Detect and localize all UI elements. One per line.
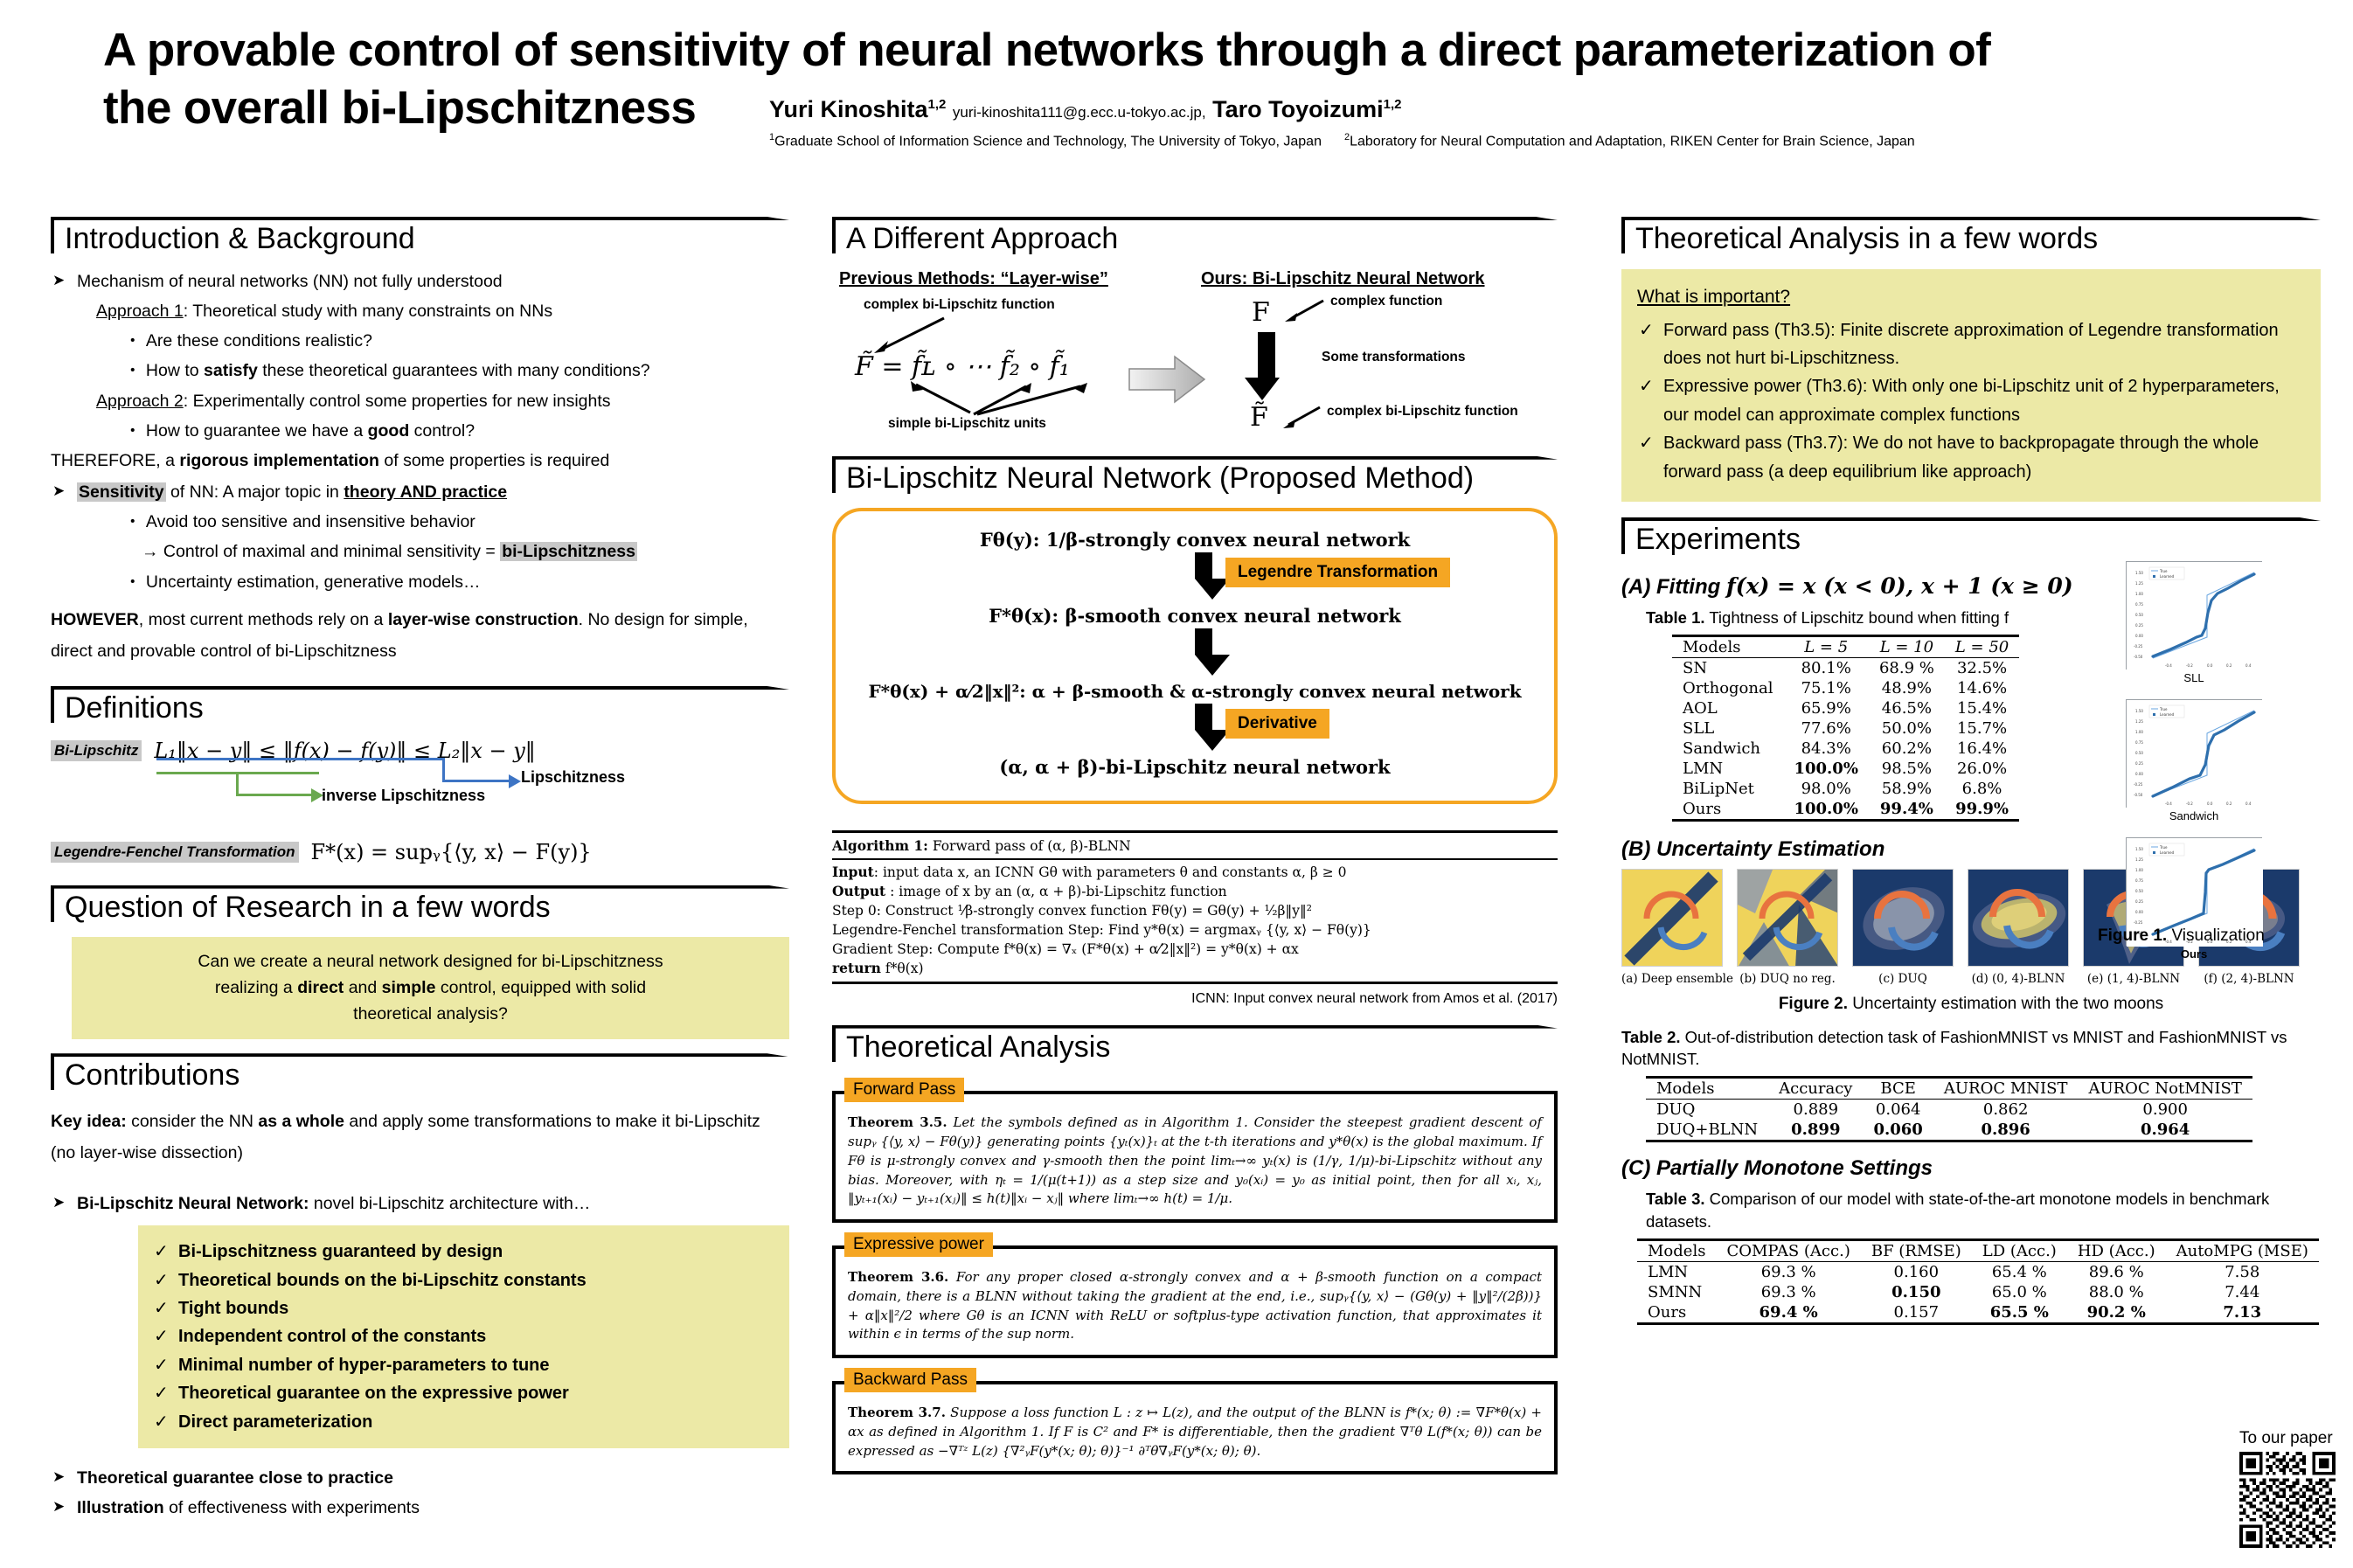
table-3-caption: Table 3. Comparison of our model with st… — [1646, 1188, 2321, 1233]
contributions-heading: Contributions — [51, 1053, 789, 1097]
algorithm-box: Algorithm 1: Forward pass of (α, β)-BLNN… — [832, 830, 1558, 1009]
contributions-guarantee-text: Theoretical guarantee close to practice — [77, 1468, 393, 1488]
table-1-cell: AOL — [1672, 698, 1783, 718]
table-3-cell: 7.44 — [2166, 1282, 2319, 1302]
figure-1-label-ours: Ours — [2126, 947, 2262, 961]
question-line-1: Can we create a neural network designed … — [87, 949, 774, 975]
qr-block: To our paper — [2239, 1429, 2336, 1552]
table-2-cell: 0.899 — [1768, 1120, 1863, 1141]
affil-2: Laboratory for Neural Computation and Ad… — [1350, 134, 1915, 149]
question-line-2-mid: and — [344, 978, 381, 997]
table-2-col-auroc-notmnist: AUROC NotMNIST — [2078, 1078, 2252, 1100]
table-1-cell: 46.5% — [1869, 698, 1945, 718]
svg-text:1.25: 1.25 — [2135, 857, 2143, 862]
theorem-3-6-text: For any proper closed α-strongly convex … — [848, 1269, 1542, 1342]
approach-left-formula: F̃ = f̃ʟ ∘ ⋯ f̃₂ ∘ f̃₁ — [855, 351, 1070, 382]
table-1-cell: 60.2% — [1869, 739, 1945, 759]
table-row: SN80.1%68.9 %32.5% — [1672, 657, 2019, 678]
table-1-cell: 99.9% — [1945, 799, 2019, 821]
section-theory-few-words: Theoretical Analysis in a few words What… — [1621, 217, 2321, 502]
contribution-item-label: Bi-Lipschitzness guaranteed by design — [178, 1242, 503, 1261]
svg-text:0.0: 0.0 — [2207, 801, 2213, 806]
moon-image-0-4-blnn — [1968, 869, 2069, 967]
table-1-cell: 48.9% — [1869, 678, 1945, 698]
intro-s1-text: ・ Avoid too sensitive and insensitive be… — [124, 512, 475, 531]
middle-column: A Different Approach Previous Methods: “… — [832, 217, 1558, 1487]
table-3-cell: 0.157 — [1861, 1302, 1972, 1324]
table-row: Ours69.4 %0.15765.5 %90.2 %7.13 — [1637, 1302, 2319, 1324]
moon-caption: (a) Deep ensemble — [1621, 972, 1723, 986]
svg-text:0.75: 0.75 — [2135, 740, 2143, 745]
proposed-step-1: Fθ(y): 1/β-strongly convex neural networ… — [850, 529, 1540, 551]
table-row: LMN69.3 %0.16065.4 %89.6 %7.58 — [1637, 1262, 2319, 1283]
intro-bullet-1-text: Mechanism of neural networks (NN) not fu… — [77, 272, 503, 291]
table-3-cell: LMN — [1637, 1262, 1716, 1283]
green-run — [236, 794, 313, 796]
theorem-backward-pass: Backward Pass Theorem 3.7. Suppose a los… — [832, 1381, 1558, 1474]
author-1-affil-sup: 1,2 — [928, 97, 947, 112]
contributions-illustration-rest: of effectiveness with experiments — [164, 1498, 420, 1517]
figure-1-caption: Figure 1. Visualization — [2098, 926, 2351, 946]
svg-text:-0.50: -0.50 — [2134, 793, 2143, 797]
theory-point-item: Expressive power (Th3.6): With only one … — [1637, 372, 2305, 429]
title-line-1: A provable control of sensitivity of neu… — [103, 24, 1990, 76]
svg-text:0.4: 0.4 — [2245, 663, 2252, 668]
table-1-cell: 32.5% — [1945, 657, 2019, 678]
contribution-item: Theoretical guarantee on the expressive … — [152, 1379, 775, 1407]
table-1-cell: 77.6% — [1783, 718, 1868, 739]
moon-panel: (c) DUQ — [1852, 869, 1954, 986]
table-row: DUQ+BLNN0.8990.0600.8960.964 — [1646, 1120, 2252, 1141]
figure-1-panel-sandwich: 1.501.251.00 0.750.500.25 0.00-0.25-0.50… — [2126, 699, 2262, 822]
contribution-item: Minimal number of hyper-parameters to tu… — [152, 1351, 775, 1379]
table-3-cell: 69.3 % — [1716, 1262, 1860, 1283]
contributions-bullet-blnn: Bi-Lipschitz Neural Network: novel bi-Li… — [51, 1191, 789, 1217]
author-line: Yuri Kinoshita1,2 yuri-kinoshita111@g.ec… — [769, 96, 2334, 123]
contribution-item: Direct parameterization — [152, 1408, 775, 1436]
table-3-col-hd: HD (Acc.) — [2067, 1240, 2166, 1262]
svg-text:0.75: 0.75 — [2135, 878, 2143, 883]
moon-caption: (f) (2, 4)-BLNN — [2198, 972, 2300, 986]
experiments-heading: Experiments — [1621, 517, 2321, 561]
question-box: Can we create a neural network designed … — [72, 937, 789, 1039]
approach-down-arrow-icon — [1253, 332, 1280, 400]
svg-text:Learned: Learned — [2160, 850, 2175, 855]
table-1-cell: LMN — [1672, 759, 1783, 779]
table-3-caption-label: Table 3. — [1646, 1190, 1705, 1208]
table-3-cell: 69.4 % — [1716, 1302, 1860, 1324]
table-row: SMNN69.3 %0.15065.0 %88.0 %7.44 — [1637, 1282, 2319, 1302]
algorithm-rule-top — [832, 830, 1558, 833]
algorithm-line-text: : image of x by an (α, α + β)-bi-Lipschi… — [885, 884, 1226, 899]
table-3-cell: 88.0 % — [2067, 1282, 2166, 1302]
algorithm-footnote: ICNN: Input convex neural network from A… — [832, 989, 1558, 1009]
proposed-arrow-3-wrap: Derivative — [850, 702, 1540, 756]
table-1-cell: 100.0% — [1783, 759, 1868, 779]
table-1-cell: 99.4% — [1869, 799, 1945, 821]
proposed-heading-text: Bi-Lipschitz Neural Network (Proposed Me… — [846, 461, 1474, 495]
figure-1-caption-label: Figure 1. — [2098, 926, 2167, 945]
table-1-col-l10: L = 10 — [1869, 635, 1945, 657]
table-row: Sandwich84.3%60.2%16.4% — [1672, 739, 2019, 759]
intro-a1-s2-pre: ・ How to — [124, 361, 204, 380]
blue-underline — [156, 758, 445, 760]
svg-text:1.25: 1.25 — [2135, 719, 2143, 724]
theory-point-text: Expressive power (Th3.6): With only one … — [1663, 377, 2280, 424]
label-lipschitzness: Lipschitzness — [521, 768, 625, 787]
question-simple: simple — [382, 978, 436, 997]
key-idea-bold: as a whole — [258, 1112, 344, 1131]
question-direct: direct — [297, 978, 344, 997]
table-3: Models COMPAS (Acc.) BF (RMSE) LD (Acc.)… — [1637, 1238, 2319, 1325]
table-1-cell: 15.7% — [1945, 718, 2019, 739]
table-2-cell: 0.064 — [1863, 1100, 1933, 1120]
table-2-header-row: Models Accuracy BCE AUROC MNIST AUROC No… — [1646, 1078, 2252, 1100]
table-row: SLL77.6%50.0%15.7% — [1672, 718, 2019, 739]
question-line-2: realizing a direct and simple control, e… — [87, 975, 774, 1002]
approach-left-title: Previous Methods: “Layer-wise” — [839, 269, 1108, 289]
table-1-cell: 68.9 % — [1869, 657, 1945, 678]
algorithm-title-rest: Forward pass of (α, β)-BLNN — [928, 838, 1131, 854]
table-1-cell: 98.5% — [1869, 759, 1945, 779]
what-is-important-label: What is important? — [1637, 283, 2305, 311]
theory-heading: Theoretical Analysis — [832, 1025, 1558, 1069]
svg-text:0.00: 0.00 — [2135, 772, 2143, 776]
theory-few-words-box: What is important? Forward pass (Th3.5):… — [1621, 269, 2321, 502]
svg-text:True: True — [2159, 845, 2168, 850]
algorithm-line-text: f*θ(x) — [881, 961, 924, 976]
poster-root: A provable control of sensitivity of neu… — [0, 0, 2353, 1568]
theory-point-text: Backward pass (Th3.7): We do not have to… — [1663, 434, 2259, 481]
contribution-item-label: Direct parameterization — [178, 1412, 372, 1432]
table-2: Models Accuracy BCE AUROC MNIST AUROC No… — [1646, 1076, 2252, 1142]
theorem-expressive-power: Expressive power Theorem 3.6. For any pr… — [832, 1245, 1558, 1358]
author-1-email[interactable]: yuri-kinoshita111@g.ecc.u-tokyo.ac.jp, — [953, 104, 1206, 121]
tag-legendre-transformation: Legendre Transformation — [1225, 558, 1450, 587]
contributions-bullet-illustration: Illustration of effectiveness with exper… — [51, 1495, 789, 1521]
svg-text:-0.50: -0.50 — [2134, 655, 2143, 659]
poster-header: A provable control of sensitivity of neu… — [0, 24, 2353, 135]
table-1-cell: 84.3% — [1783, 739, 1868, 759]
table-3-cell: SMNN — [1637, 1282, 1716, 1302]
approach-diagram: Previous Methods: “Layer-wise” Ours: Bi-… — [832, 269, 1558, 444]
svg-text:1.25: 1.25 — [2135, 581, 2143, 586]
figure-1-caption-text: Visualization — [2167, 926, 2265, 945]
table-3-cell: 0.160 — [1861, 1262, 1972, 1283]
blue-run — [442, 780, 510, 782]
introduction-heading-text: Introduction & Background — [65, 222, 415, 255]
svg-text:Learned: Learned — [2160, 574, 2175, 579]
table-row: DUQ0.8890.0640.8620.900 — [1646, 1100, 2252, 1120]
table-1-cell: 80.1% — [1783, 657, 1868, 678]
svg-text:0.25: 0.25 — [2135, 623, 2143, 628]
svg-text:True: True — [2159, 569, 2168, 573]
theory-point-item: Backward pass (Th3.7): We do not have to… — [1637, 429, 2305, 486]
algorithm-line-keyword: Input — [832, 864, 874, 880]
intro-a1-s1: ・ Are these conditions realistic? — [51, 329, 789, 354]
approach-left-bottom-label: simple bi-Lipschitz units — [888, 416, 1046, 432]
algorithm-line: Gradient Step: Compute f*θ(x) = ∇ₓ (F*θ(… — [832, 940, 1558, 959]
table-2-cell: 0.964 — [2078, 1120, 2252, 1141]
table-3-col-models: Models — [1637, 1240, 1716, 1262]
author-2-name: Taro Toyoizumi — [1212, 96, 1384, 122]
contribution-item: Independent control of the constants — [152, 1322, 775, 1350]
table-row: AOL65.9%46.5%15.4% — [1672, 698, 2019, 718]
contributions-blnn-bold: Bi-Lipschitz Neural Network: — [77, 1194, 309, 1213]
introduction-heading: Introduction & Background — [51, 217, 789, 260]
intro-approach-1: Approach 1: Theoretical study with many … — [51, 299, 789, 324]
section-theoretical-analysis: Theoretical Analysis Forward Pass Theore… — [832, 1025, 1558, 1475]
theorem-3-7-body: Theorem 3.7. Suppose a loss function L :… — [848, 1404, 1542, 1460]
algorithm-line: Step 0: Construct ¹⁄β-strongly convex fu… — [832, 901, 1558, 920]
table-1-header-row: Models L = 5 L = 10 L = 50 — [1672, 635, 2019, 657]
moon-caption: (e) (1, 4)-BLNN — [2083, 972, 2184, 986]
approach-right-F-label: complex function — [1330, 294, 1442, 309]
table-2-caption-text: Out-of-distribution detection task of Fa… — [1621, 1028, 2287, 1069]
table-3-cell: 7.58 — [2166, 1262, 2319, 1283]
svg-text:0.00: 0.00 — [2135, 634, 2143, 638]
table-3-cell: 7.13 — [2166, 1302, 2319, 1324]
moon-panel: (b) DUQ no reg. — [1737, 869, 1838, 986]
table-3-cell: 69.3 % — [1716, 1282, 1860, 1302]
approach-heading-text: A Different Approach — [846, 222, 1118, 255]
intro-therefore-post: of some properties is required — [379, 451, 609, 470]
table-2-cell: 0.900 — [2078, 1100, 2252, 1120]
algorithm-title-bold: Algorithm 1: — [832, 837, 928, 854]
contribution-item-label: Theoretical guarantee on the expressive … — [178, 1384, 569, 1403]
intro-a1-s2-bold: satisfy — [204, 361, 258, 380]
definition-legendre-tag: Legendre-Fenchel Transformation — [51, 842, 299, 863]
table-2-caption-label: Table 2. — [1621, 1028, 1681, 1046]
contribution-item: Theoretical bounds on the bi-Lipschitz c… — [152, 1266, 775, 1294]
intro-a1-s2: ・ How to satisfy these theoretical guara… — [51, 358, 789, 384]
approach-transition-arrow-icon — [1128, 353, 1208, 410]
approach-2-text: : Experimentally control some properties… — [184, 392, 611, 411]
contributions-heading-text: Contributions — [65, 1058, 239, 1092]
moon-image-duq-no-reg — [1737, 869, 1838, 967]
proposed-arrow-2-wrap — [850, 627, 1540, 681]
definition-annotation-graphics: inverse Lipschitzness Lipschitzness — [156, 763, 789, 828]
svg-text:-0.25: -0.25 — [2134, 644, 2143, 649]
approach-2-label: Approach 2 — [96, 392, 184, 411]
table-3-cell: 89.6 % — [2067, 1262, 2166, 1283]
svg-text:1.50: 1.50 — [2135, 847, 2143, 851]
table-3-cell: 65.5 % — [1972, 1302, 2067, 1324]
svg-text:1.50: 1.50 — [2135, 571, 2143, 575]
author-2-affil-sup: 1,2 — [1384, 97, 1402, 112]
intro-bullet-2: Sensitivity of NN: A major topic in theo… — [51, 480, 789, 505]
svg-text:1.00: 1.00 — [2135, 592, 2143, 596]
svg-text:0.4: 0.4 — [2245, 801, 2252, 806]
svg-text:1.00: 1.00 — [2135, 868, 2143, 872]
theorem-tag-backward-pass: Backward Pass — [844, 1368, 976, 1392]
table-1-cell: Ours — [1672, 799, 1783, 821]
intro-approach-2: Approach 2: Experimentally control some … — [51, 389, 789, 414]
svg-text:0.25: 0.25 — [2135, 761, 2143, 766]
algorithm-line-text: Step 0: Construct ¹⁄β-strongly convex fu… — [832, 903, 1312, 919]
intro-a2-s1: ・ How to guarantee we have a good contro… — [51, 419, 789, 444]
approach-heading: A Different Approach — [832, 217, 1558, 260]
intro-theory-practice: theory AND practice — [344, 482, 507, 502]
section-definitions: Definitions Bi-Lipschitz L₁‖x − y‖ ≤ ‖f(… — [51, 686, 789, 864]
contribution-item: Bi-Lipschitzness guaranteed by design — [152, 1238, 775, 1266]
definition-bilipschitz-tag: Bi-Lipschitz — [51, 740, 142, 761]
contributions-illustration-bold: Illustration — [77, 1498, 164, 1517]
table-1-caption-text: Tightness of Lipschitz bound when fittin… — [1705, 608, 2009, 627]
algorithm-line-text: Legendre-Fenchel transformation Step: Fi… — [832, 922, 1371, 938]
theory-few-words-heading-text: Theoretical Analysis in a few words — [1635, 222, 2098, 255]
contributions-key-idea: Key idea: consider the NN as a whole and… — [51, 1106, 789, 1169]
table-1-cell: 50.0% — [1869, 718, 1945, 739]
contribution-item-label: Independent control of the constants — [178, 1327, 486, 1346]
theorem-3-5-text: Let the symbols defined as in Algorithm … — [848, 1114, 1542, 1206]
table-1-col-l50: L = 50 — [1945, 635, 2019, 657]
table-1-cell: SN — [1672, 657, 1783, 678]
table-2-cell: DUQ+BLNN — [1646, 1120, 1768, 1141]
experiments-heading-text: Experiments — [1635, 523, 1801, 556]
green-drop — [236, 772, 239, 796]
table-3-cell: 0.150 — [1861, 1282, 1972, 1302]
intro-a2-s1-pre: ・ How to guarantee we have a — [124, 421, 368, 441]
approach-1-label: Approach 1 — [96, 302, 184, 321]
table-3-caption-text: Comparison of our model with state-of-th… — [1646, 1190, 2269, 1231]
question-line-2-pre: realizing a — [215, 978, 297, 997]
svg-text:-0.2: -0.2 — [2186, 801, 2193, 806]
intro-however-bold-1: HOWEVER — [51, 610, 139, 629]
theory-heading-text: Theoretical Analysis — [846, 1030, 1110, 1064]
question-line-3: theoretical analysis? — [87, 1002, 774, 1028]
proposed-arrow-1-wrap: Legendre Transformation — [850, 551, 1540, 605]
algorithm-line-text: Gradient Step: Compute f*θ(x) = ∇ₓ (F*θ(… — [832, 941, 1299, 957]
theorem-3-6-label: Theorem 3.6. — [848, 1269, 948, 1285]
theory-point-item: Forward pass (Th3.5): Finite discrete ap… — [1637, 316, 2305, 373]
table-3-cell: 65.0 % — [1972, 1282, 2067, 1302]
table-3-col-bf: BF (RMSE) — [1861, 1240, 1972, 1262]
definition-legendre-formula: F*(x) = supᵧ{⟨y, x⟩ − F(y)} — [311, 840, 592, 864]
intro-s3-text: ・ Uncertainty estimation, generative mod… — [124, 572, 481, 592]
moon-caption: (c) DUQ — [1852, 972, 1954, 986]
question-line-2-post: control, equipped with solid — [435, 978, 646, 997]
intro-therefore-bold: rigorous implementation — [179, 451, 379, 470]
algorithm-rule-mid — [832, 858, 1558, 860]
svg-text:0.50: 0.50 — [2135, 889, 2143, 893]
approach-transformations-label: Some transformations — [1322, 350, 1466, 365]
theory-point-text: Forward pass (Th3.5): Finite discrete ap… — [1663, 321, 2279, 368]
approach-right-F: F — [1252, 297, 1270, 328]
intro-therefore-pre: THEREFORE, a — [51, 451, 179, 470]
table-2-cell: 0.060 — [1863, 1120, 1933, 1141]
svg-text:-0.2: -0.2 — [2186, 663, 2193, 668]
table-1-cell: 100.0% — [1783, 799, 1868, 821]
intro-a1-s1-text: ・ Are these conditions realistic? — [124, 331, 372, 350]
proposed-heading: Bi-Lipschitz Neural Network (Proposed Me… — [832, 456, 1558, 500]
approach-right-Ftilde-arrow-icon — [1281, 402, 1327, 430]
figure-1-label-sll: SLL — [2126, 671, 2262, 684]
theorem-tag-forward-pass: Forward Pass — [844, 1078, 964, 1102]
affil-1: Graduate School of Information Science a… — [774, 134, 1322, 149]
theorem-3-5-body: Theorem 3.5. Let the symbols defined as … — [848, 1114, 1542, 1209]
section-introduction: Introduction & Background Mechanism of n… — [51, 217, 789, 667]
table-1-col-models: Models — [1672, 635, 1783, 657]
intro-therefore: THEREFORE, a rigorous implementation of … — [51, 448, 789, 475]
figure-2-caption-text: Uncertainty estimation with the two moon… — [1848, 995, 2163, 1013]
experiment-a-formula: f(x) = x (x < 0), x + 1 (x ≥ 0) — [1726, 573, 2073, 599]
svg-text:0.0: 0.0 — [2207, 663, 2213, 668]
qr-code-icon[interactable] — [2239, 1452, 2336, 1548]
tag-derivative: Derivative — [1225, 709, 1329, 739]
left-column: Introduction & Background Mechanism of n… — [51, 217, 789, 1533]
affiliations: 1Graduate School of Information Science … — [769, 132, 2334, 149]
moon-caption: (b) DUQ no reg. — [1737, 972, 1838, 986]
table-1-cell: Sandwich — [1672, 739, 1783, 759]
table-1-cell: Orthogonal — [1672, 678, 1783, 698]
table-1-cell: 75.1% — [1783, 678, 1868, 698]
table-3-header-row: Models COMPAS (Acc.) BF (RMSE) LD (Acc.)… — [1637, 1240, 2319, 1262]
svg-text:0.2: 0.2 — [2226, 801, 2232, 806]
section-question: Question of Research in a few words Can … — [51, 885, 789, 1040]
table-2-cell: 0.862 — [1933, 1100, 2079, 1120]
key-idea-pre: consider the NN — [127, 1112, 259, 1131]
algorithm-line-text: : input data x, an ICNN Gθ with paramete… — [874, 864, 1347, 880]
algorithm-line: return f*θ(x) — [832, 959, 1558, 978]
question-heading: Question of Research in a few words — [51, 885, 789, 929]
svg-text:0.00: 0.00 — [2135, 910, 2143, 914]
definitions-heading: Definitions — [51, 686, 789, 730]
table-1-cell: BiLipNet — [1672, 779, 1783, 799]
approach-right-title: Ours: Bi-Lipschitz Neural Network — [1201, 269, 1485, 289]
contribution-item-label: Theoretical bounds on the bi-Lipschitz c… — [178, 1271, 587, 1290]
intro-however: HOWEVER, most current methods rely on a … — [51, 604, 789, 667]
experiment-section-c-title: (C) Partially Monotone Settings — [1621, 1156, 2321, 1181]
table-2-col-accuracy: Accuracy — [1768, 1078, 1863, 1100]
contributions-blnn-rest: novel bi-Lipschitz architecture with… — [309, 1194, 590, 1213]
intro-a2-s1-bold: good — [368, 421, 410, 441]
question-heading-text: Question of Research in a few words — [65, 891, 551, 924]
svg-text:0.75: 0.75 — [2135, 602, 2143, 607]
table-2-caption: Table 2. Out-of-distribution detection t… — [1621, 1026, 2321, 1072]
table-1-cell: 65.9% — [1783, 698, 1868, 718]
approach-1-text: : Theoretical study with many constraint… — [184, 302, 552, 321]
table-1-cell: 16.4% — [1945, 739, 2019, 759]
intro-a2-s1-post: control? — [409, 421, 475, 441]
table-row: Ours100.0%99.4%99.9% — [1672, 799, 2019, 821]
table-3-cell: 65.4 % — [1972, 1262, 2067, 1283]
svg-text:-0.4: -0.4 — [2165, 801, 2172, 806]
section-approach: A Different Approach Previous Methods: “… — [832, 217, 1558, 444]
theorem-tag-expressive-power: Expressive power — [844, 1232, 993, 1257]
definition-legendre-row: Legendre-Fenchel Transformation F*(x) = … — [51, 840, 789, 864]
moon-image-duq — [1852, 869, 1954, 967]
theorem-forward-pass: Forward Pass Theorem 3.5. Let the symbol… — [832, 1091, 1558, 1223]
table-2-col-auroc-mnist: AUROC MNIST — [1933, 1078, 2079, 1100]
plot-sandwich: 1.501.251.00 0.750.500.25 0.00-0.25-0.50… — [2126, 699, 2262, 808]
algorithm-rule-bottom — [832, 982, 1558, 984]
intro-s3: ・ Uncertainty estimation, generative mod… — [51, 570, 789, 595]
approach-left-arrow-icon — [871, 315, 949, 355]
table-row: BiLipNet98.0%58.9%6.8% — [1672, 779, 2019, 799]
svg-text:-0.4: -0.4 — [2165, 663, 2172, 668]
figure-1-label-sandwich: Sandwich — [2126, 809, 2262, 822]
key-idea-label: Key idea: — [51, 1112, 127, 1131]
svg-text:-0.25: -0.25 — [2134, 920, 2143, 925]
qr-label: To our paper — [2239, 1429, 2336, 1448]
table-1: Models L = 5 L = 10 L = 50 SN80.1%68.9 %… — [1672, 635, 2019, 822]
algorithm-line: Output : image of x by an (α, α + β)-bi-… — [832, 882, 1558, 901]
contributions-bullet-guarantee: Theoretical guarantee close to practice — [51, 1466, 789, 1491]
svg-text:0.50: 0.50 — [2135, 613, 2143, 617]
intro-s2-pre: → Control of maximal and minimal sensiti… — [142, 542, 500, 561]
table-1-caption-label: Table 1. — [1646, 608, 1705, 627]
